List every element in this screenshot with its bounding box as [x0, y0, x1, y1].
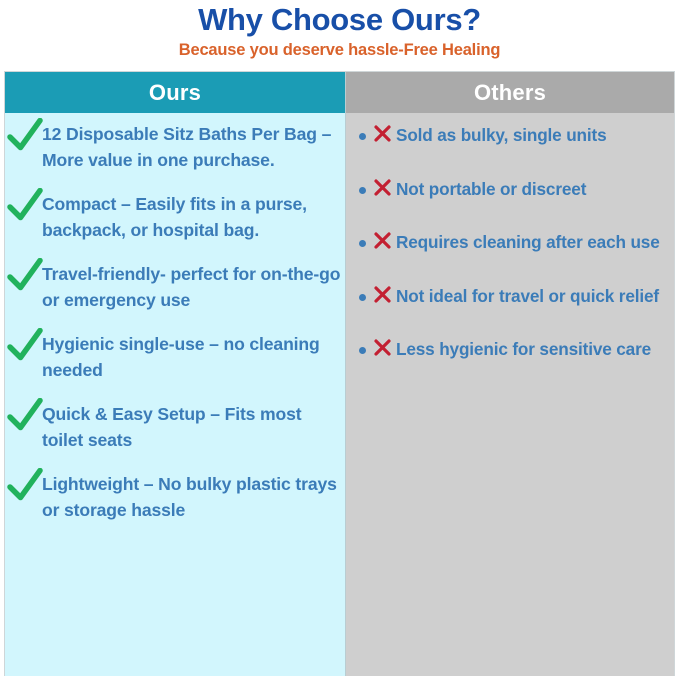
check-icon	[7, 118, 43, 152]
list-item-label: 12 Disposable Sitz Baths Per Bag – More …	[42, 122, 341, 173]
list-item: Not portable or discreet	[346, 177, 674, 203]
column-header-ours: Ours	[5, 72, 345, 113]
check-icon	[7, 468, 43, 502]
check-icon	[7, 328, 43, 362]
list-item: Lightweight – No bulky plastic trays or …	[5, 472, 345, 523]
column-ours: Ours 12 Disposable Sitz Baths Per Bag – …	[5, 72, 346, 676]
list-item-label: Travel-friendly- perfect for on-the-go o…	[42, 262, 341, 313]
column-body-ours: 12 Disposable Sitz Baths Per Bag – More …	[5, 113, 345, 676]
heading-block: Why Choose Ours? Because you deserve has…	[0, 0, 679, 68]
list-item-label: Less hygienic for sensitive care	[396, 337, 668, 363]
x-icon	[373, 285, 392, 304]
column-header-others: Others	[346, 72, 674, 113]
x-icon	[373, 124, 392, 143]
page-subtitle: Because you deserve hassle-Free Healing	[0, 39, 679, 61]
bullet-icon	[359, 294, 366, 301]
check-icon	[7, 188, 43, 222]
check-icon	[7, 258, 43, 292]
bullet-icon	[359, 347, 366, 354]
comparison-infographic: Why Choose Ours? Because you deserve has…	[0, 0, 679, 676]
list-item-label: Lightweight – No bulky plastic trays or …	[42, 472, 341, 523]
others-drawback-list: Sold as bulky, single units Not portable…	[346, 113, 674, 363]
list-item: Travel-friendly- perfect for on-the-go o…	[5, 262, 345, 313]
comparison-table: Ours 12 Disposable Sitz Baths Per Bag – …	[4, 71, 675, 676]
x-icon	[373, 178, 392, 197]
list-item-label: Requires cleaning after each use	[396, 230, 668, 256]
list-item-label: Sold as bulky, single units	[396, 123, 668, 149]
column-body-others: Sold as bulky, single units Not portable…	[346, 113, 674, 676]
list-item-label: Not ideal for travel or quick relief	[396, 284, 668, 310]
list-item-label: Not portable or discreet	[396, 177, 668, 203]
check-icon	[7, 398, 43, 432]
x-icon	[373, 231, 392, 250]
bullet-icon	[359, 133, 366, 140]
list-item: Compact – Easily fits in a purse, backpa…	[5, 192, 345, 243]
list-item: Quick & Easy Setup – Fits most toilet se…	[5, 402, 345, 453]
list-item: 12 Disposable Sitz Baths Per Bag – More …	[5, 122, 345, 173]
list-item: Not ideal for travel or quick relief	[346, 284, 674, 310]
list-item-label: Compact – Easily fits in a purse, backpa…	[42, 192, 341, 243]
list-item-label: Hygienic single-use – no cleaning needed	[42, 332, 341, 383]
list-item-label: Quick & Easy Setup – Fits most toilet se…	[42, 402, 341, 453]
list-item: Requires cleaning after each use	[346, 230, 674, 256]
list-item: Sold as bulky, single units	[346, 123, 674, 149]
column-others: Others Sold as bulky, single units	[346, 72, 674, 676]
bullet-icon	[359, 187, 366, 194]
bullet-icon	[359, 240, 366, 247]
ours-benefit-list: 12 Disposable Sitz Baths Per Bag – More …	[5, 113, 345, 523]
list-item: Hygienic single-use – no cleaning needed	[5, 332, 345, 383]
list-item: Less hygienic for sensitive care	[346, 337, 674, 363]
x-icon	[373, 338, 392, 357]
page-title: Why Choose Ours?	[0, 0, 679, 39]
